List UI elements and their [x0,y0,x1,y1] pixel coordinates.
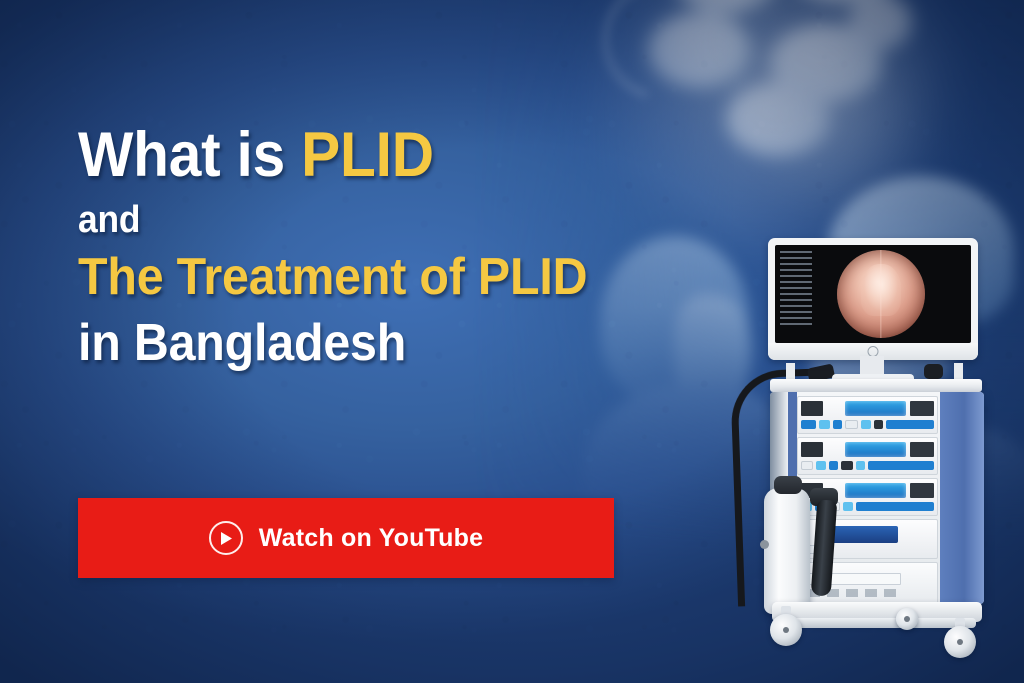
cylinder-knob [760,540,769,549]
tower-base-bar [778,618,976,628]
module-button [886,420,934,429]
module-button [829,461,838,470]
module-port [910,483,934,498]
headline-line-3: The Treatment of PLID [78,251,655,303]
display-monitor [768,238,978,360]
module-button [856,461,865,470]
monitor-screen [775,245,971,343]
caster-wheel [770,614,802,646]
monitor-neck [860,356,884,376]
video-thumbnail-card: What is PLID and The Treatment of PLID i… [0,0,1024,683]
module-port [801,401,823,416]
module-display [829,526,899,543]
module-button [841,461,853,470]
caster-wheel [896,608,918,630]
module-button-row [801,460,934,471]
module-display [845,401,906,416]
equipment-module [797,437,938,475]
tower-shelf [770,379,982,392]
endoscopy-tower [748,238,1000,658]
headline-line-1-accent: PLID [301,120,434,190]
caster-hub [957,639,963,645]
module-port [910,401,934,416]
module-display [845,442,906,457]
module-button [801,461,813,470]
module-button [861,420,871,429]
module-button [801,420,816,429]
headline-line-1: What is PLID [78,124,655,187]
module-button [833,420,842,429]
cabinet-side-right [940,392,984,604]
headline-line-2: and [78,201,655,239]
endoscopic-image [837,250,925,338]
monitor-overlay-text [780,251,812,327]
module-button [874,420,883,429]
cylinder-valve-cap [774,476,802,494]
module-button-row [801,419,934,430]
caster-wheel [944,626,976,658]
headline-line-1-plain: What is [78,120,301,190]
module-button [845,420,858,429]
caster-hub [904,616,910,622]
caster-hub [783,627,789,633]
equipment-module [797,396,938,434]
watch-on-youtube-label: Watch on YouTube [259,524,483,553]
camera-head-holder [924,364,943,379]
headline-line-4: in Bangladesh [78,317,655,369]
module-button [868,461,934,470]
play-circle-icon [209,521,243,555]
headline-block: What is PLID and The Treatment of PLID i… [78,124,698,369]
gas-cylinder [764,488,810,614]
module-button [819,420,830,429]
module-button [843,502,853,511]
module-port [910,442,934,457]
watch-on-youtube-button[interactable]: Watch on YouTube [78,498,614,578]
module-display [845,483,906,498]
module-button [816,461,826,470]
module-port [801,442,823,457]
module-button [856,502,934,511]
